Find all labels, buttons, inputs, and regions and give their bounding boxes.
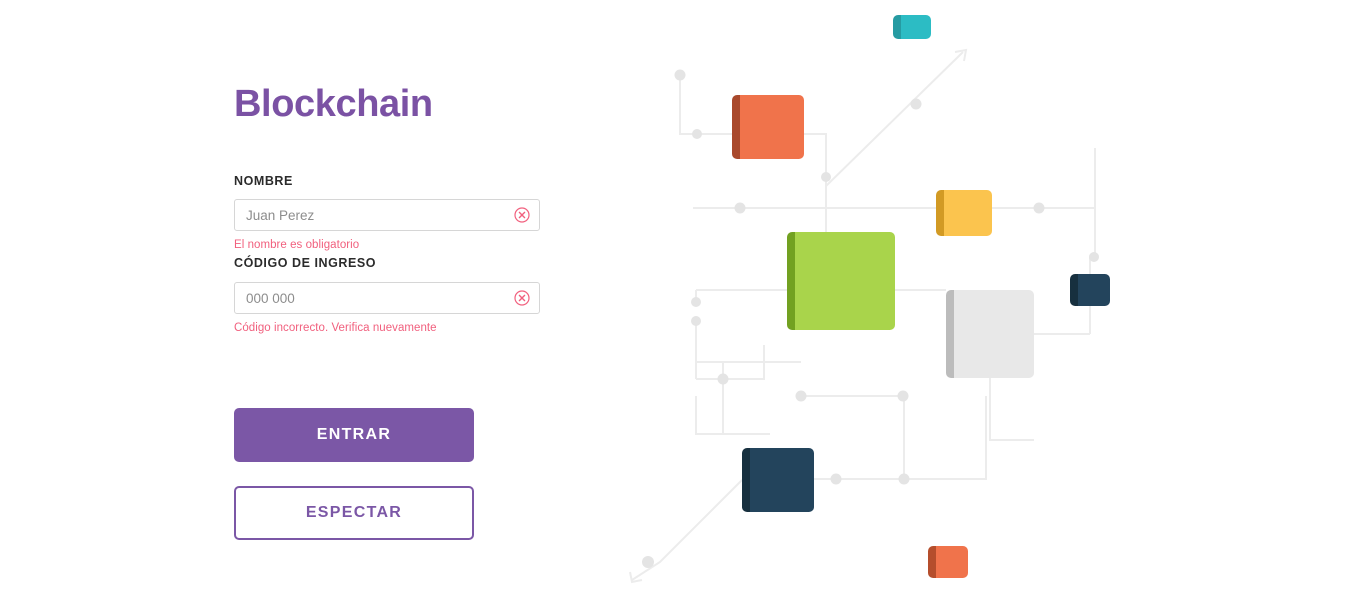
- page-title: Blockchain: [234, 82, 433, 126]
- label-codigo-de-ingreso: CÓDIGO DE INGRESO: [234, 256, 376, 270]
- circle-x-icon-codigo[interactable]: [514, 290, 530, 306]
- block-yellow-face: [944, 190, 992, 236]
- block-green-face: [795, 232, 895, 330]
- codigo-input[interactable]: [235, 283, 503, 313]
- nombre-field-wrapper[interactable]: [234, 199, 540, 231]
- block-green: [787, 232, 895, 330]
- block-orange-small: [928, 546, 968, 578]
- entrar-button[interactable]: ENTRAR: [234, 408, 474, 462]
- block-navy-small: [1070, 274, 1110, 306]
- nombre-input[interactable]: [235, 200, 503, 230]
- espectar-button[interactable]: ESPECTAR: [234, 486, 474, 540]
- block-yellow: [936, 190, 992, 236]
- block-orange-small-face: [936, 546, 968, 578]
- blockchain-network-illustration: [600, 0, 1355, 603]
- login-form-panel: Blockchain NOMBRE El nombre es obligator…: [234, 0, 574, 603]
- block-navy-small-face: [1078, 274, 1110, 306]
- block-gray: [946, 290, 1034, 378]
- block-teal: [893, 15, 931, 39]
- block-gray-face: [954, 290, 1034, 378]
- block-orange-large: [732, 95, 804, 159]
- label-nombre: NOMBRE: [234, 174, 293, 188]
- block-teal-face: [901, 15, 931, 39]
- codigo-error-message: Código incorrecto. Verifica nuevamente: [234, 322, 437, 334]
- login-page: Blockchain NOMBRE El nombre es obligator…: [0, 0, 1355, 603]
- codigo-field-wrapper[interactable]: [234, 282, 540, 314]
- blocks-layer: [600, 0, 1355, 603]
- nombre-error-message: El nombre es obligatorio: [234, 239, 359, 251]
- block-orange-large-face: [740, 95, 804, 159]
- circle-x-icon-nombre[interactable]: [514, 207, 530, 223]
- block-navy-large-face: [750, 448, 814, 512]
- block-navy-large: [742, 448, 814, 512]
